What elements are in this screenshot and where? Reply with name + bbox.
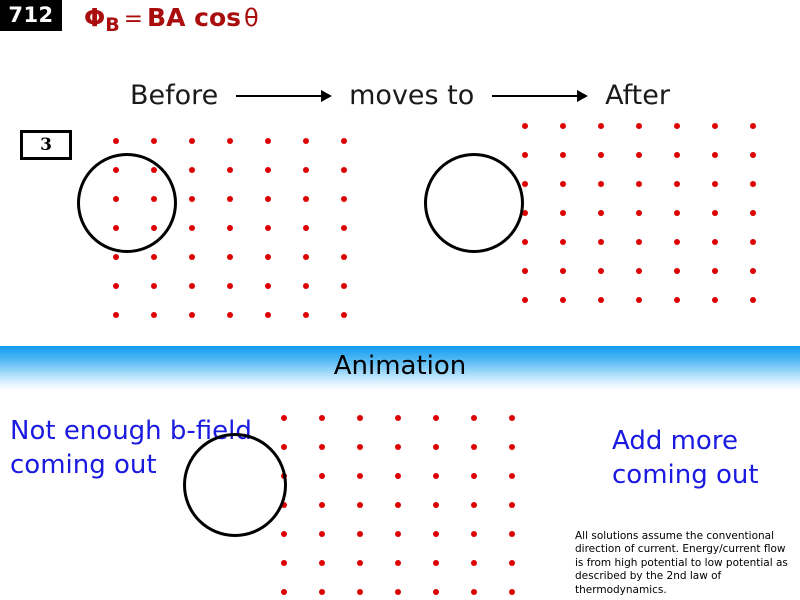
field-dot xyxy=(471,560,477,566)
field-dot xyxy=(281,589,287,595)
field-dot xyxy=(471,473,477,479)
field-dot xyxy=(395,589,401,595)
field-dot xyxy=(395,502,401,508)
field-dot xyxy=(509,444,515,450)
field-dot xyxy=(395,415,401,421)
field-dot xyxy=(509,502,515,508)
field-dot xyxy=(319,415,325,421)
field-dot xyxy=(357,531,363,537)
field-dot xyxy=(281,415,287,421)
field-dot xyxy=(319,502,325,508)
field-dot xyxy=(433,473,439,479)
field-dot xyxy=(433,560,439,566)
field-dot xyxy=(509,473,515,479)
magnetic-field-dots-animation xyxy=(0,0,800,600)
field-dot xyxy=(319,589,325,595)
field-dot xyxy=(433,589,439,595)
field-dot xyxy=(357,444,363,450)
field-dot xyxy=(509,531,515,537)
field-dot xyxy=(319,531,325,537)
field-dot xyxy=(395,473,401,479)
field-dot xyxy=(319,560,325,566)
field-dot xyxy=(357,589,363,595)
field-dot xyxy=(357,415,363,421)
slide-canvas: 712 ΦB=BA cosθ Before moves to After 3 A… xyxy=(0,0,800,600)
field-dot xyxy=(471,502,477,508)
field-dot xyxy=(357,560,363,566)
field-dot xyxy=(357,502,363,508)
current-loop-animation xyxy=(183,433,287,537)
field-dot xyxy=(357,473,363,479)
field-dot xyxy=(471,415,477,421)
field-dot xyxy=(281,531,287,537)
field-dot xyxy=(319,444,325,450)
field-dot xyxy=(471,531,477,537)
field-dot xyxy=(471,444,477,450)
field-dot xyxy=(319,473,325,479)
field-dot xyxy=(395,560,401,566)
field-dot xyxy=(281,560,287,566)
field-dot xyxy=(509,560,515,566)
field-dot xyxy=(509,589,515,595)
field-dot xyxy=(433,415,439,421)
right-annotation: Add more coming out xyxy=(612,424,787,492)
field-dot xyxy=(433,502,439,508)
field-dot xyxy=(471,589,477,595)
field-dot xyxy=(281,444,287,450)
field-dot xyxy=(509,415,515,421)
disclaimer-text: All solutions assume the conventional di… xyxy=(575,530,790,597)
field-dot xyxy=(395,531,401,537)
field-dot xyxy=(395,444,401,450)
field-dot xyxy=(433,444,439,450)
field-dot xyxy=(433,531,439,537)
